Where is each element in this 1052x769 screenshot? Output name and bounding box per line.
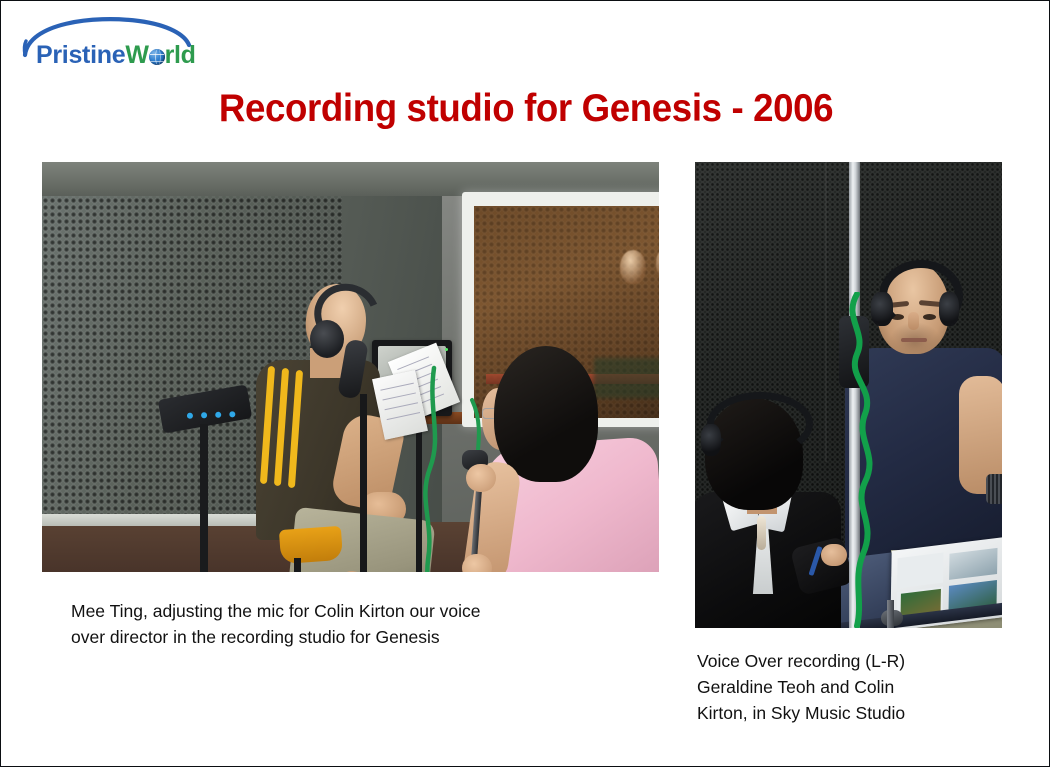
mic-stand-pole	[360, 394, 367, 572]
ceiling	[42, 162, 659, 196]
orange-stool-seat	[279, 526, 343, 564]
green-cable-coiled	[813, 292, 933, 628]
logo-text-world-tail: rld	[165, 41, 196, 69]
headphone-earcup	[310, 320, 344, 358]
control-room-equipment	[594, 358, 659, 398]
caption-left-photo: Mee Ting, adjusting the mic for Colin Ki…	[71, 599, 631, 651]
standing-woman-hair	[494, 346, 598, 482]
logo-text-world-w: W	[125, 41, 148, 69]
standing-woman-hand-upper	[466, 464, 496, 492]
woman-headphones-headband-icon	[707, 392, 813, 456]
caption-line: Mee Ting, adjusting the mic for Colin Ki…	[71, 599, 631, 625]
logo-wordmark: PristineWrld	[36, 43, 196, 68]
caption-line: over director in the recording studio fo…	[71, 625, 631, 651]
photo-right-voice-over[interactable]	[695, 162, 1002, 628]
reflection-head-1	[620, 250, 646, 284]
stool-pole	[294, 558, 301, 572]
globe-icon	[149, 49, 165, 65]
mic-grill	[986, 474, 1002, 504]
caption-right-photo: Voice Over recording (L-R) Geraldine Teo…	[697, 649, 997, 727]
logo-text-pristine: Pristine	[36, 41, 125, 69]
rack-stand-pole	[200, 424, 208, 572]
caption-line: Kirton, in Sky Music Studio	[697, 701, 997, 727]
photo-left-studio-session[interactable]	[42, 162, 659, 572]
slide-title: Recording studio for Genesis - 2006	[33, 89, 1020, 130]
slide-canvas: PristineWrld Recording studio for Genesi…	[0, 0, 1050, 767]
man-headphone-earcup-right	[939, 292, 959, 326]
caption-line: Voice Over recording (L-R)	[697, 649, 997, 675]
pristine-world-logo[interactable]: PristineWrld	[19, 15, 201, 73]
power-led-icon	[445, 348, 448, 351]
woman-pendant	[757, 516, 766, 550]
woman-headphone-earcup	[701, 424, 721, 456]
caption-line: Geraldine Teoh and Colin	[697, 675, 997, 701]
